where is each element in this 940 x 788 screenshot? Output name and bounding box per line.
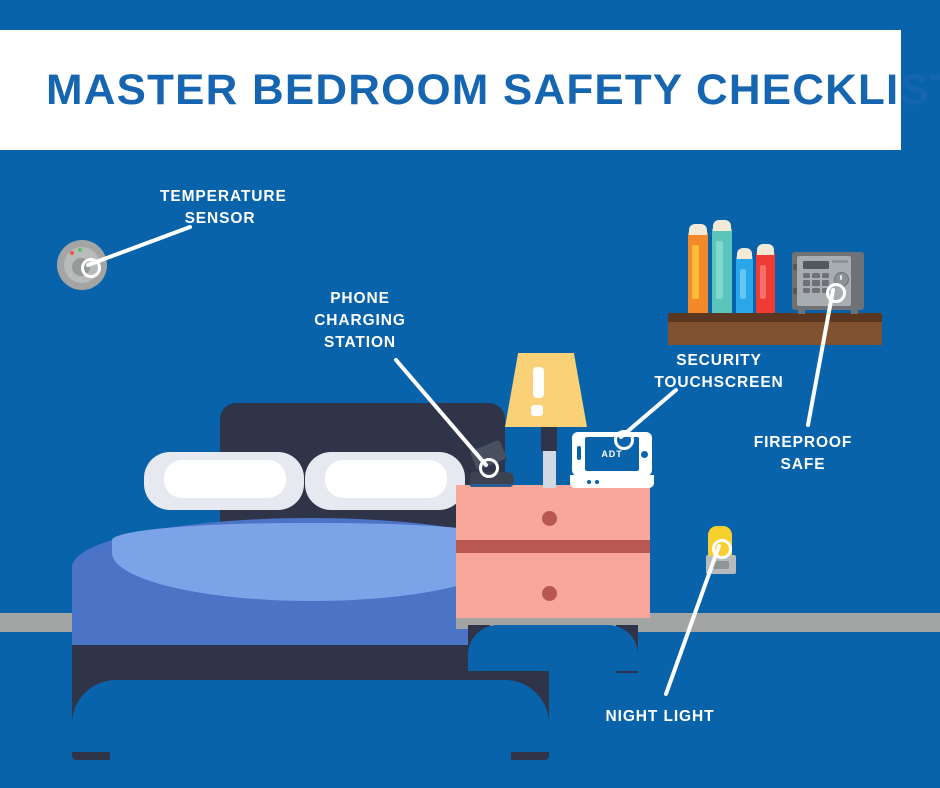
book-2 — [712, 227, 732, 313]
book-4-stripe — [760, 265, 766, 299]
tablet-dock-led-right — [595, 480, 599, 484]
safe-key-7[interactable] — [803, 288, 810, 293]
safe-key-3[interactable] — [822, 273, 829, 278]
nightstand-drawer-divider — [456, 540, 650, 553]
book-1 — [688, 231, 708, 313]
book-1-stripe — [692, 245, 699, 299]
callout-label-temperature-sensor: TEMPERATURE SENSOR — [160, 186, 280, 230]
tablet-speaker — [577, 446, 581, 460]
leader-dot-temperature-sensor — [81, 258, 101, 278]
wall-shelf — [668, 313, 882, 345]
night-light-outlet-slot — [713, 561, 729, 569]
tablet-dock-led-left — [587, 480, 591, 484]
leader-line-security-touchscreen — [621, 390, 676, 437]
callout-label-night-light: NIGHT LIGHT — [592, 706, 728, 728]
infographic-canvas: ADT — [0, 0, 940, 788]
safe-display-screen — [803, 261, 829, 269]
leader-dot-phone-charging-station — [479, 458, 499, 478]
lamp-shade — [505, 353, 587, 427]
safe-key-8[interactable] — [812, 288, 819, 293]
shelf-top-surface — [668, 313, 882, 322]
book-4-pages — [757, 244, 774, 255]
callout-label-phone-charging-station: PHONE CHARGING STATION — [298, 288, 422, 354]
book-1-pages — [689, 224, 707, 235]
nightstand-illustration — [456, 485, 650, 660]
book-3-stripe — [740, 269, 746, 299]
callout-label-security-touchscreen: SECURITY TOUCHSCREEN — [645, 350, 793, 394]
pillow-left-inner — [164, 460, 286, 498]
safe-key-4[interactable] — [803, 280, 810, 285]
nightstand-knob-top — [542, 511, 557, 526]
page-title: MASTER BEDROOM SAFETY CHECKLIST — [46, 69, 940, 112]
book-2-pages — [713, 220, 731, 231]
nightstand-underframe-arch — [468, 625, 638, 671]
callout-label-fireproof-safe: FIREPROOF SAFE — [745, 432, 861, 476]
leader-dot-security-touchscreen — [614, 430, 634, 450]
leader-dot-fireproof-safe — [826, 283, 846, 303]
sensor-led-red — [70, 251, 74, 255]
safe-key-2[interactable] — [812, 273, 819, 278]
book-3-pages — [737, 248, 752, 259]
tablet-dock-stand — [570, 475, 654, 488]
tablet-brand-label: ADT — [601, 449, 622, 459]
safe-keypad[interactable] — [803, 273, 829, 293]
title-banner: MASTER BEDROOM SAFETY CHECKLIST — [0, 30, 901, 150]
security-touchscreen-tablet[interactable]: ADT — [570, 432, 654, 488]
lamp-stem — [543, 451, 556, 488]
pillow-left — [144, 452, 304, 510]
safe-foot-right — [851, 310, 858, 314]
lamp-shade-highlight-long — [533, 367, 544, 398]
safe-key-5[interactable] — [812, 280, 819, 285]
tablet-home-button[interactable] — [641, 451, 648, 458]
nightstand-knob-bottom — [542, 586, 557, 601]
book-4 — [756, 251, 775, 313]
lamp-shade-highlight-short — [531, 405, 543, 416]
pillow-right — [305, 452, 465, 510]
sensor-led-green — [78, 248, 82, 252]
safe-handle[interactable] — [832, 260, 848, 263]
book-2-stripe — [716, 241, 723, 299]
pillow-right-inner — [325, 460, 447, 498]
fireproof-safe-illustration — [792, 252, 864, 314]
safe-key-6[interactable] — [822, 280, 829, 285]
bed-underframe-arch — [72, 680, 549, 752]
shelf-front-face — [668, 322, 882, 345]
lamp-neck — [541, 427, 557, 451]
leader-dot-night-light — [712, 539, 732, 559]
safe-foot-left — [798, 310, 805, 314]
safe-key-1[interactable] — [803, 273, 810, 278]
tablet-body: ADT — [572, 432, 652, 476]
book-3 — [736, 255, 753, 313]
